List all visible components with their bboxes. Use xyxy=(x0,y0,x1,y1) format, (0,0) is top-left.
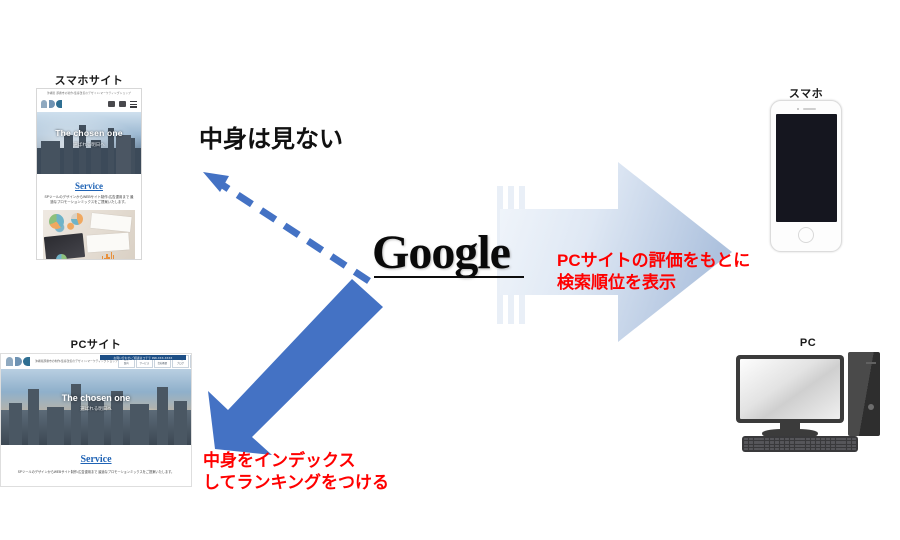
home-button-icon xyxy=(798,227,814,243)
city-skyline-graphic xyxy=(1,410,191,445)
smartphone-device-illustration xyxy=(770,100,842,252)
sp-mockup-service-body: SPツールのデザインからWEBサイト制作・広告運用まで 最適なプロモーションミッ… xyxy=(37,195,141,206)
monitor xyxy=(736,355,844,423)
phone-device-caption: スマホ xyxy=(770,85,842,101)
annotation-ranking-display: PCサイトの評価をもとに 検索順位を表示 xyxy=(557,250,750,295)
smartphone-site-mockup[interactable]: 沖縄県 那覇市の制作・集客改善のデザイン・マーケティングショップ The cho… xyxy=(36,88,142,260)
sp-mockup-hero-subtitle: 選ばれる明日へ xyxy=(37,142,141,148)
pc-mockup-logo-icon xyxy=(6,357,30,366)
sp-mockup-photo xyxy=(43,210,135,260)
monitor-screen xyxy=(740,359,840,419)
sp-mockup-tagline: 沖縄県 那覇市の制作・集客改善のデザイン・マーケティングショップ xyxy=(47,91,131,95)
mail-icon[interactable] xyxy=(108,101,115,107)
keyboard xyxy=(742,436,858,452)
sp-mockup-service-section: Service SPツールのデザインからWEBサイト制作・広告運用まで 最適なプ… xyxy=(37,174,141,206)
pc-site-mockup[interactable]: 沖縄県那覇市の制作・集客改善のデザイン・マーケティングショップ 会社 案内 Se… xyxy=(0,353,192,487)
phone-screen xyxy=(776,114,837,222)
optical-drive-slot xyxy=(866,362,876,364)
pc-mockup-service-body: SPツールのデザインからWEBサイト制作・広告運用まで 最適なプロモーションミッ… xyxy=(1,470,191,475)
sp-mockup-logo-icon xyxy=(41,100,62,108)
skyline-graphic xyxy=(37,148,141,174)
pc-mockup-tagline: 沖縄県那覇市の制作・集客改善のデザイン・マーケティングショップ xyxy=(35,359,118,363)
front-camera-icon xyxy=(797,108,799,110)
monitor-stand-base xyxy=(762,429,818,436)
sp-mockup-header xyxy=(37,96,141,112)
annotation-no-look: 中身は見ない xyxy=(199,124,343,156)
power-button-icon xyxy=(868,404,874,410)
sp-mockup-nav[interactable] xyxy=(108,101,137,107)
google-wordmark: Google xyxy=(372,229,510,277)
pc-site-caption: PCサイト xyxy=(0,336,192,352)
speaker-icon xyxy=(803,108,816,110)
dashed-arrow-to-sp-site xyxy=(203,172,369,281)
pc-mockup-service-title[interactable]: Service xyxy=(1,454,191,465)
pc-mockup-hero: The chosen one 選ばれる明日へ xyxy=(1,369,191,445)
sp-site-caption: スマホサイト xyxy=(36,72,142,88)
pc-tower xyxy=(848,352,880,436)
annotation-index-ranking: 中身をインデックス してランキングをつける xyxy=(203,450,389,495)
pc-mockup-service-section: Service SPツールのデザインからWEBサイト制作・広告運用まで 最適なプ… xyxy=(1,445,191,475)
google-underline xyxy=(374,276,524,278)
phone-earpiece xyxy=(796,107,816,110)
solid-arrow-to-pc-site xyxy=(208,279,383,455)
sp-mockup-tagline-bar: 沖縄県 那覇市の制作・集客改善のデザイン・マーケティングショップ xyxy=(37,89,141,96)
hamburger-icon[interactable] xyxy=(130,101,137,107)
pc-mockup-hero-title: The chosen one xyxy=(1,393,191,403)
pc-mockup-nav-item[interactable]: Contact お問合せ xyxy=(190,355,192,368)
desktop-pc-illustration xyxy=(736,352,880,452)
pc-mockup-contact-bar[interactable]: お問い合わせ・ご相談はコチラ 098-XXX-XXXX xyxy=(100,355,186,360)
pc-mockup-header: 沖縄県那覇市の制作・集客改善のデザイン・マーケティングショップ 会社 案内 Se… xyxy=(1,354,191,369)
pc-device-caption: PC xyxy=(736,337,880,349)
sp-mockup-service-title[interactable]: Service xyxy=(37,181,141,191)
phone-icon[interactable] xyxy=(119,101,126,107)
sp-mockup-hero-title: The chosen one xyxy=(37,128,141,138)
diagram-canvas: スマホサイト 沖縄県 那覇市の制作・集客改善のデザイン・マーケティングショップ … xyxy=(0,0,900,540)
pc-mockup-hero-subtitle: 選ばれる明日へ xyxy=(1,406,191,412)
sp-mockup-hero: The chosen one 選ばれる明日へ xyxy=(37,112,141,174)
